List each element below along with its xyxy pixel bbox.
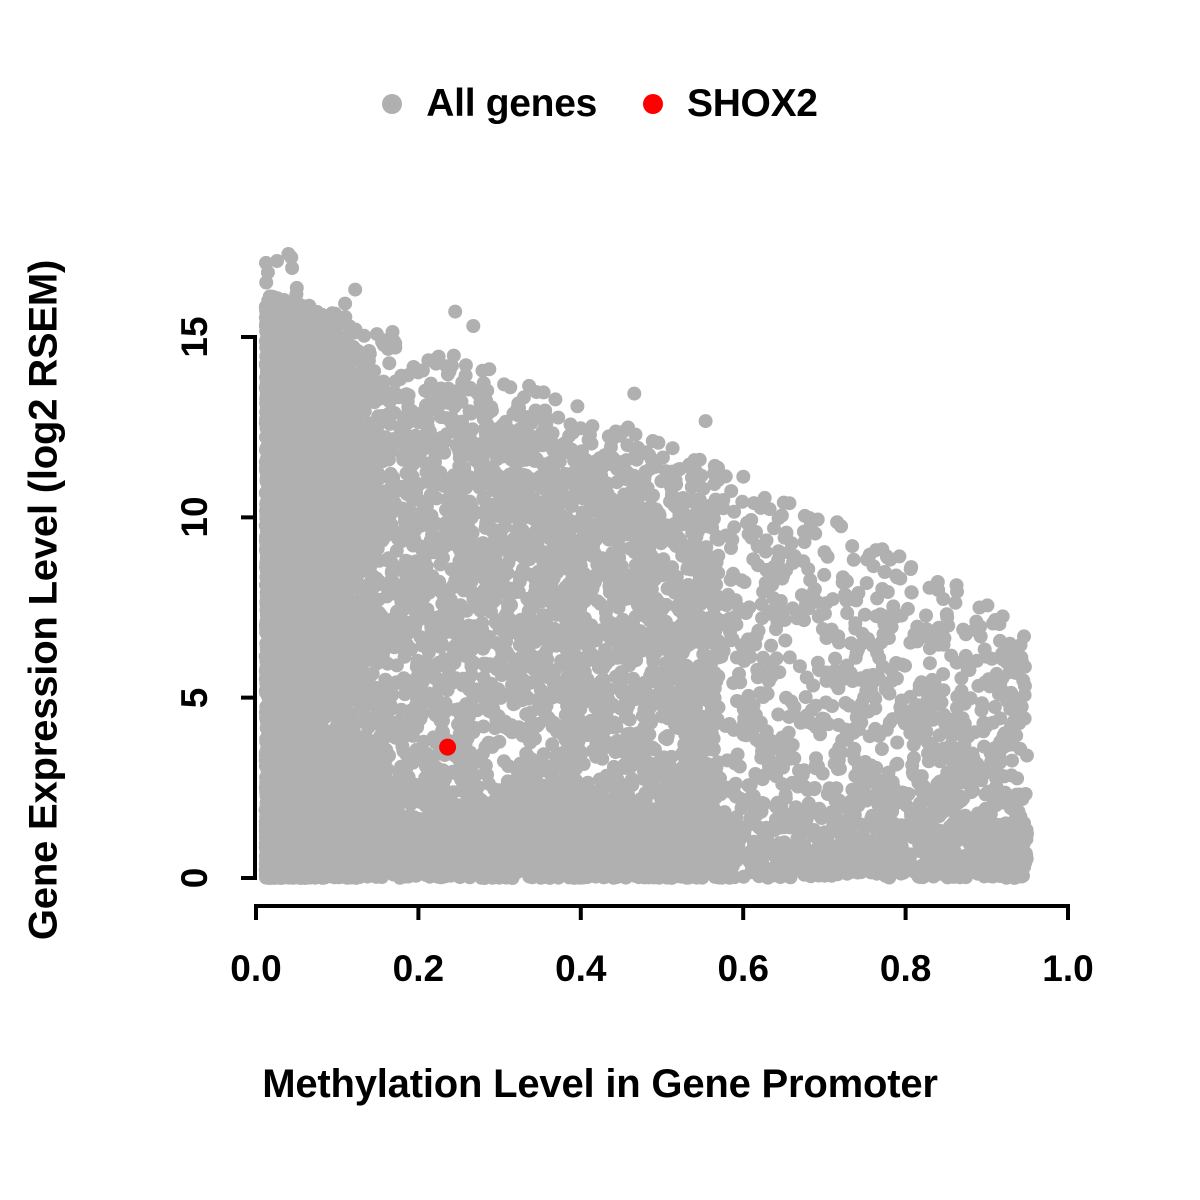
shox2-highlight-layer [439, 739, 456, 756]
x-axis-line [256, 906, 1068, 920]
x-tick-label: 0.6 [717, 948, 768, 990]
legend-entry-shox2: SHOX2 [643, 82, 818, 126]
x-tick-label: 1.0 [1042, 948, 1093, 990]
y-axis-line [241, 337, 255, 878]
y-axis-title: Gene Expression Level (log2 RSEM) [22, 260, 67, 940]
x-axis-title: Methylation Level in Gene Promoter [0, 1062, 1200, 1107]
x-tick-label: 0.2 [393, 948, 444, 990]
legend-marker-circle-icon-all-genes [382, 94, 402, 114]
legend: All genes SHOX2 [0, 82, 1200, 126]
y-tick-label: 0 [174, 868, 216, 889]
x-tick-label: 0.8 [880, 948, 931, 990]
y-tick-label: 5 [174, 687, 216, 708]
x-tick-label: 0.4 [555, 948, 606, 990]
y-tick-label: 10 [174, 497, 216, 538]
legend-marker-circle-icon-shox2 [643, 94, 663, 114]
y-tick-label: 15 [174, 316, 216, 357]
plot-canvas [0, 0, 1200, 1200]
legend-entry-all-genes: All genes [382, 82, 597, 126]
legend-label-all-genes: All genes [426, 82, 597, 126]
shox2-data-point [439, 739, 456, 756]
x-tick-label: 0.0 [230, 948, 281, 990]
legend-label-shox2: SHOX2 [687, 82, 818, 126]
scatter-plot-figure: All genes SHOX2 0.00.20.40.60.81.0 05101… [0, 0, 1200, 1200]
data-points-layer [259, 247, 1034, 885]
